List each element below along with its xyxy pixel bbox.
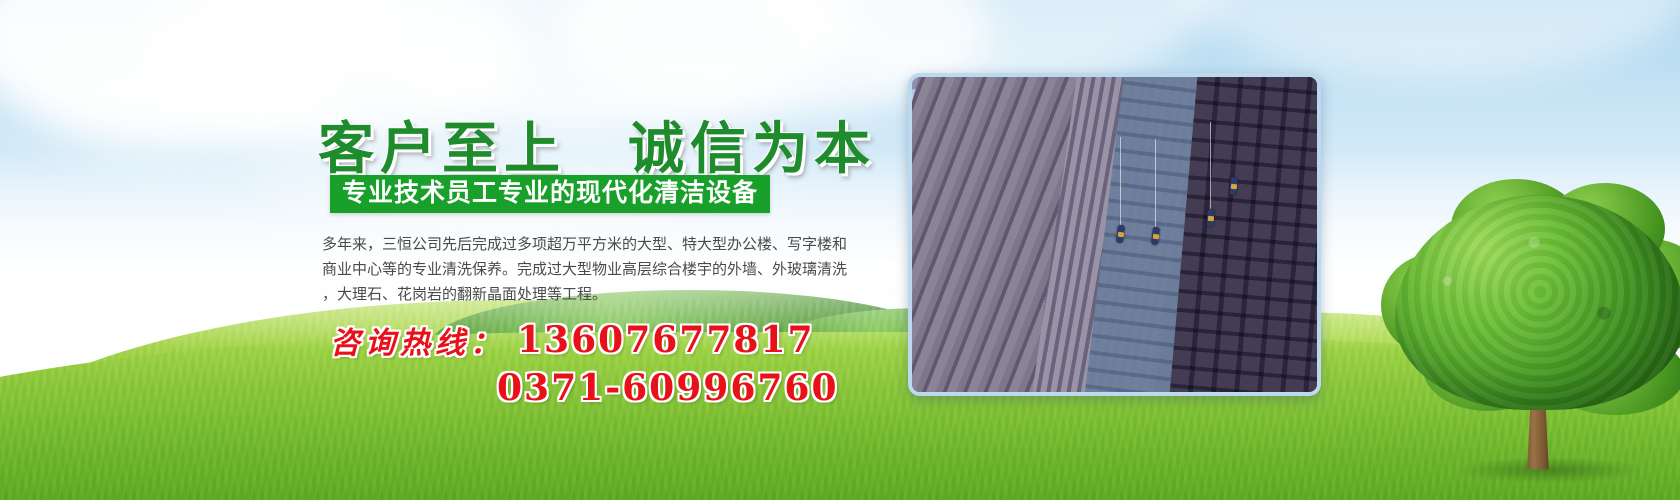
cloud-shape: [1180, 0, 1680, 80]
phone-secondary[interactable]: 0371-60996760: [497, 367, 839, 409]
hotline-row: 咨询热线：13607677817: [330, 318, 815, 362]
phone-primary[interactable]: 13607677817: [517, 319, 815, 361]
building-photo: [908, 73, 1321, 396]
subtitle-band: 专业技术员工专业的现代化清洁设备: [330, 175, 770, 213]
subtitle-text: 专业技术员工专业的现代化清洁设备: [342, 180, 758, 206]
page-title: 客户至上 诚信为本: [318, 104, 876, 185]
building-photo-image: [912, 77, 1317, 392]
tree-shadow: [1455, 457, 1645, 483]
foreground-tree: [1395, 195, 1680, 480]
paragraph-line: ，大理石、花岗岩的翻新晶面处理等工程。: [322, 282, 902, 307]
rope-line: [1155, 139, 1156, 231]
paragraph-line: 商业中心等的专业清洗保养。完成过大型物业高层综合楼宇的外墙、外玻璃清洗: [322, 257, 902, 282]
paragraph-line: 多年来，三恒公司先后完成过多项超万平方米的大型、特大型办公楼、写字楼和: [322, 232, 902, 257]
hotline-label: 咨询热线：: [330, 318, 505, 362]
hotline-row-secondary: 0371-60996760: [497, 367, 839, 409]
rope-line: [1210, 122, 1211, 212]
description-paragraph: 多年来，三恒公司先后完成过多项超万平方米的大型、特大型办公楼、写字楼和 商业中心…: [322, 232, 902, 307]
promo-banner: 客户至上 诚信为本 专业技术员工专业的现代化清洁设备 多年来，三恒公司先后完成过…: [0, 0, 1680, 500]
tree-canopy: [1395, 195, 1680, 410]
rope-line: [1120, 137, 1121, 229]
